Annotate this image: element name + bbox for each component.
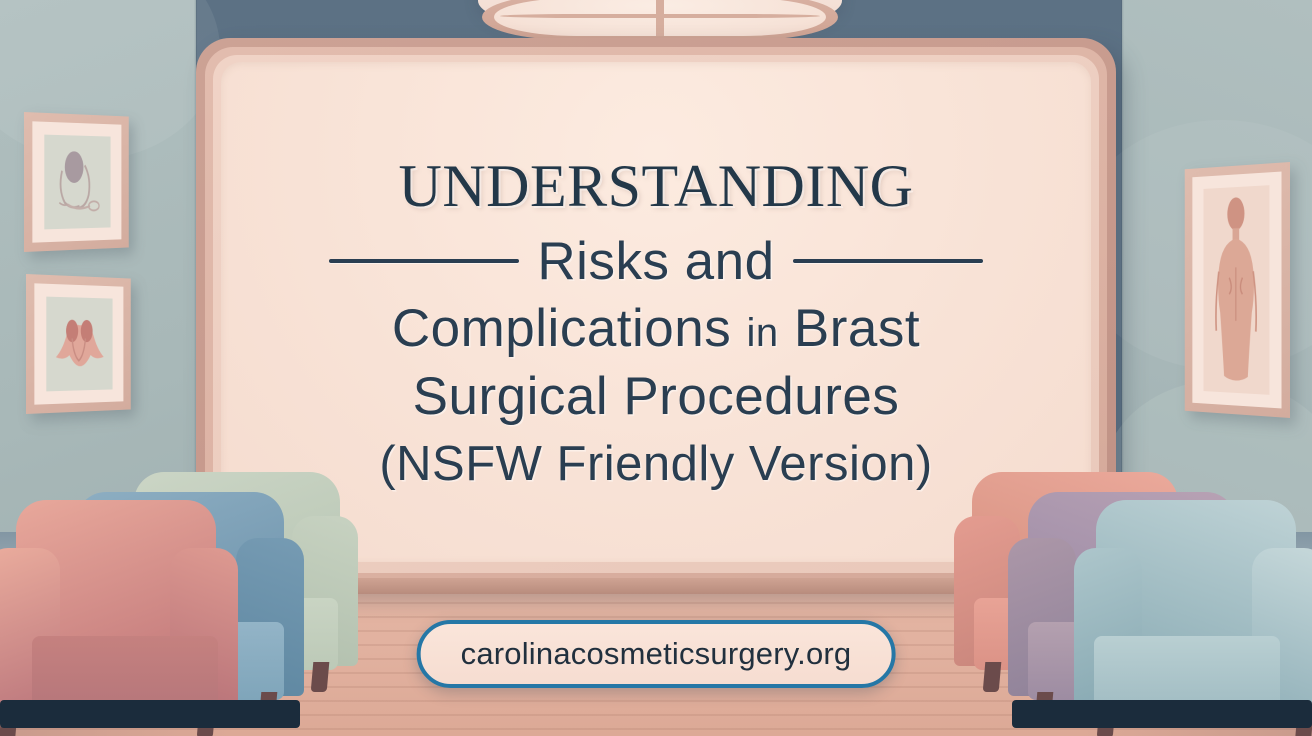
abstract-anatomy-icon [46,297,112,392]
anatomical-torso-icon [1203,185,1269,395]
brast-word: Brast [794,299,920,358]
website-url-pill[interactable]: carolinacosmeticsurgery.org [417,620,896,688]
ceiling-lamp-icon [478,0,842,38]
poster-copy: Understanding Risks and Complications in… [221,136,1091,493]
chair-shadow [0,700,300,728]
website-url-text: carolinacosmeticsurgery.org [461,636,852,671]
poster-line-procedures: Surgical Procedures [221,366,1091,429]
divider-rule-left [329,259,519,263]
wall-art-left-upper [24,112,129,252]
chair-shadow [1012,700,1312,728]
poster-divider-label: Risks and [537,231,774,292]
wall-art-right [1185,162,1290,418]
divider-rule-right [793,259,983,263]
abstract-figure-icon [44,135,110,230]
clinic-waiting-room-scene: Understanding Risks and Complications in… [0,0,1312,736]
wall-art-left-lower [26,274,131,414]
divider-row: Risks and [221,231,1091,292]
poster-line-complications: Complications in Brast [221,298,1091,361]
poster-title-main: Understanding [221,136,1091,219]
complications-word: Complications [392,299,731,358]
in-word: in [747,311,779,355]
